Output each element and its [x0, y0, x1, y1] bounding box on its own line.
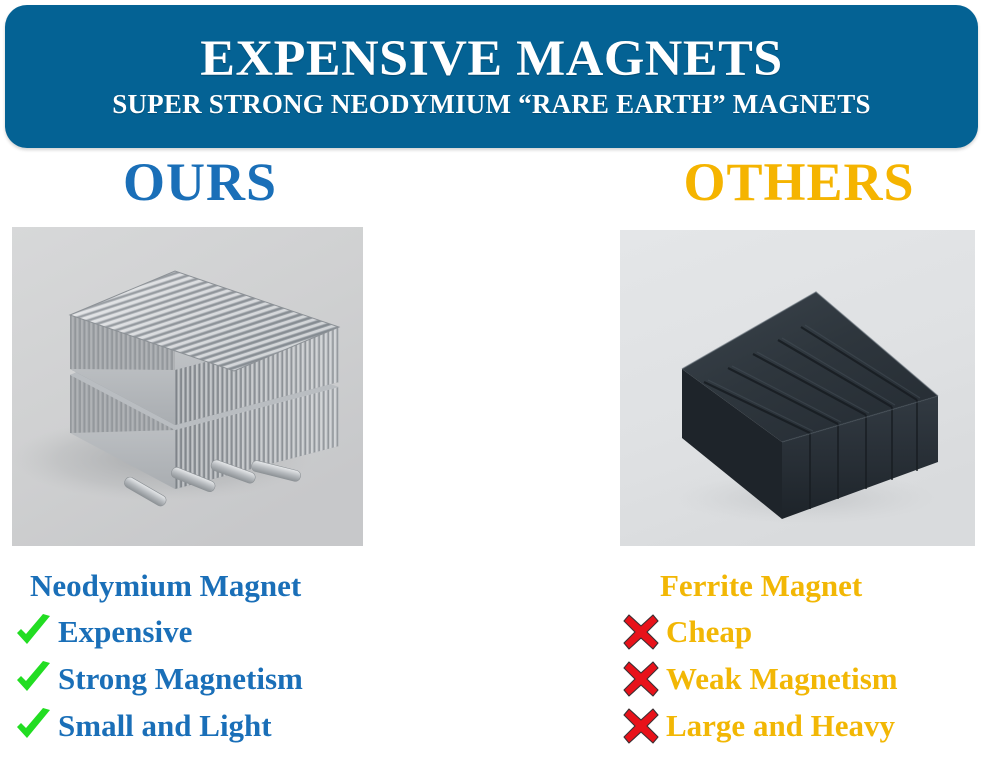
neodymium-magnet-illustration [12, 227, 363, 546]
cross-icon [620, 611, 662, 653]
cross-icon [620, 705, 662, 747]
list-item-label: Cheap [666, 615, 752, 649]
column-heading-others: OTHERS [620, 155, 978, 209]
list-title-ferrite: Ferrite Magnet [620, 566, 983, 607]
feature-list-others: Ferrite Magnet Cheap Weak Magnetism Larg… [620, 566, 983, 750]
list-item: Small and Light [12, 703, 442, 750]
header-banner: EXPENSIVE MAGNETS SUPER STRONG NEODYMIUM… [5, 5, 978, 148]
banner-subtitle: SUPER STRONG NEODYMIUM “RARE EARTH” MAGN… [112, 90, 870, 120]
product-photo-neodymium [12, 227, 363, 546]
list-item: Cheap [620, 609, 983, 656]
list-item-label: Large and Heavy [666, 709, 895, 743]
banner-title: EXPENSIVE MAGNETS [200, 33, 782, 87]
feature-list-ours: Neodymium Magnet Expensive Strong Magnet… [12, 566, 442, 750]
check-icon [12, 705, 54, 747]
check-icon [12, 611, 54, 653]
cross-icon [620, 658, 662, 700]
list-title-neodymium: Neodymium Magnet [12, 566, 442, 607]
column-heading-ours: OURS [35, 155, 365, 209]
list-item: Strong Magnetism [12, 656, 442, 703]
check-icon [12, 658, 54, 700]
list-item: Weak Magnetism [620, 656, 983, 703]
ferrite-magnet-illustration [620, 230, 975, 546]
list-item: Expensive [12, 609, 442, 656]
product-photo-ferrite [620, 230, 975, 546]
list-item: Large and Heavy [620, 703, 983, 750]
list-item-label: Small and Light [58, 709, 272, 743]
list-item-label: Strong Magnetism [58, 662, 303, 696]
list-item-label: Expensive [58, 615, 192, 649]
list-item-label: Weak Magnetism [666, 662, 898, 696]
